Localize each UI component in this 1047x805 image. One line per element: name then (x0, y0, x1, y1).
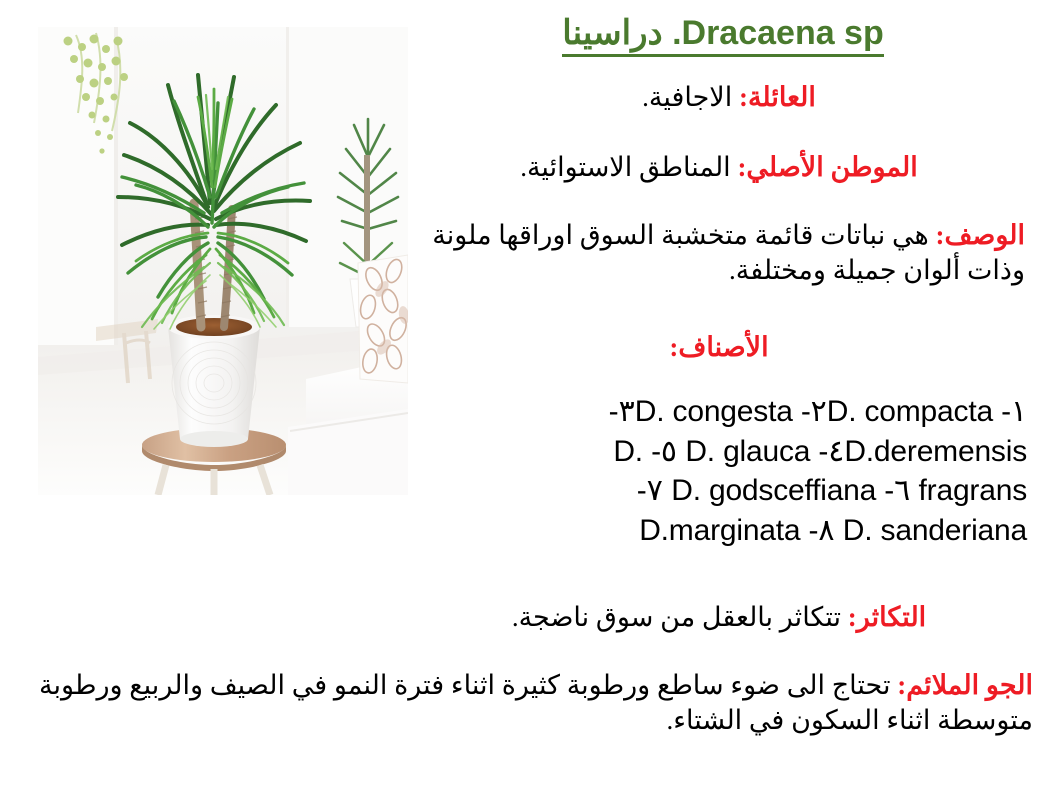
species-line: D.marginata -٨ D. sanderiana (417, 511, 1027, 551)
section-types: الأصناف: (419, 330, 1019, 365)
section-origin-text: المناطق الاستوائية. (520, 152, 730, 182)
section-description-label: الوصف: (935, 220, 1025, 250)
section-origin-label: الموطن الأصلي: (737, 152, 917, 182)
section-propagation-label: التكاثر: (848, 602, 926, 632)
species-line: D. -٥ D. glauca -٤D.deremensis (417, 432, 1027, 472)
species-list: -٣D. congesta -٢D. compacta -١ D. -٥ D. … (417, 392, 1027, 550)
section-family-text: الاجافية. (642, 82, 732, 112)
section-types-label: الأصناف: (669, 332, 768, 362)
section-family-label: العائلة: (739, 82, 816, 112)
section-climate: الجو الملائم: تحتاج الى ضوء ساطع ورطوبة … (15, 668, 1033, 737)
section-origin: الموطن الأصلي: المناطق الاستوائية. (419, 150, 1019, 185)
text-content: Dracaena sp. دراسينا العائلة: الاجافية. … (0, 0, 1047, 805)
section-climate-label: الجو الملائم: (897, 670, 1033, 700)
slide-root: Dracaena sp. دراسينا العائلة: الاجافية. … (0, 0, 1047, 805)
section-propagation: التكاثر: تتكاثر بالعقل من سوق ناضجة. (419, 600, 1019, 635)
page-title-text: Dracaena sp. دراسينا (562, 14, 884, 57)
species-line: -٧ D. godsceffiana -٦ fragrans (417, 471, 1027, 511)
species-line: -٣D. congesta -٢D. compacta -١ (417, 392, 1027, 432)
section-climate-text: تحتاج الى ضوء ساطع ورطوبة كثيرة اثناء فت… (39, 670, 1033, 735)
page-title: Dracaena sp. دراسينا (423, 14, 1023, 57)
section-family: العائلة: الاجافية. (439, 80, 1019, 115)
section-propagation-text: تتكاثر بالعقل من سوق ناضجة. (512, 602, 841, 632)
section-description: الوصف: هي نباتات قائمة متخشبة السوق اورا… (405, 218, 1025, 288)
